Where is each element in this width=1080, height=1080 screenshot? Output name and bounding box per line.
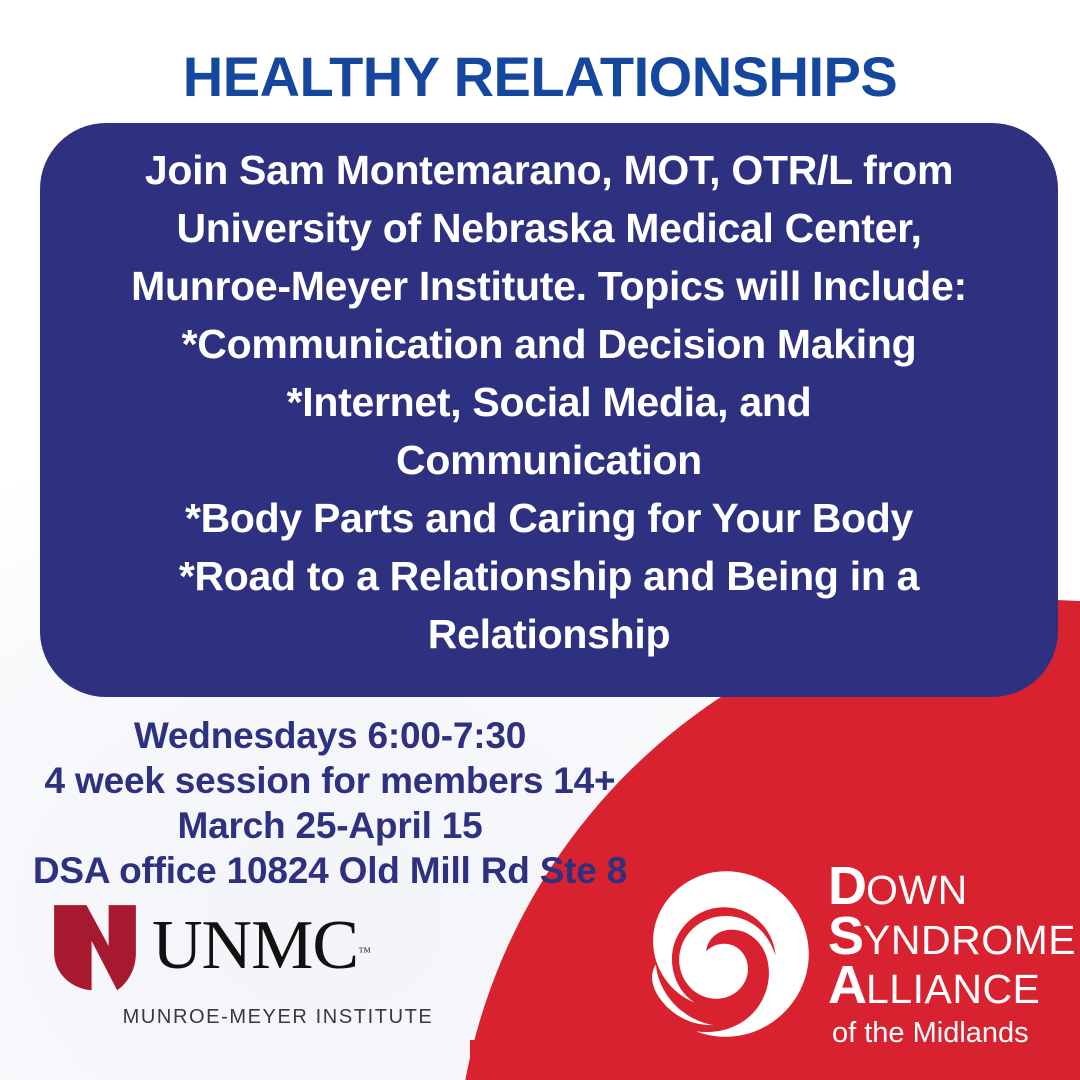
panel-line: Relationship [428, 605, 670, 663]
dsa-tagline: of the Midlands [832, 1017, 1076, 1050]
unmc-wordmark: UNMC ™ [152, 911, 358, 981]
panel-line: *Road to a Relationship and Being in a [179, 547, 919, 605]
poster-canvas: HEALTHY RELATIONSHIPS Join Sam Montemara… [0, 0, 1080, 1080]
dsa-logo: D OWN S YNDROME A LLIANCE of the Midland… [636, 858, 1056, 1050]
panel-line: University of Nebraska Medical Center, [176, 199, 921, 257]
dsa-initial-a: A [828, 961, 866, 1011]
panel-line: *Communication and Decision Making [182, 315, 917, 373]
dsa-word-own: OWN [866, 872, 968, 910]
panel-line: *Internet, Social Media, and [287, 373, 812, 431]
event-details: Wednesdays 6:00-7:30 4 week session for … [0, 713, 660, 893]
dsa-spiral-icon [636, 864, 816, 1044]
unmc-wordmark-text: UNMC [152, 907, 358, 984]
panel-line: Munroe-Meyer Institute. Topics will Incl… [131, 257, 967, 315]
unmc-subtitle: MUNROE-MEYER INSTITUTE [48, 1006, 448, 1029]
unmc-logo: UNMC ™ MUNROE-MEYER INSTITUTE [48, 900, 448, 1029]
dsa-initial-s: S [828, 912, 863, 962]
dsa-wordmark: D OWN S YNDROME A LLIANCE of the Midland… [828, 858, 1076, 1050]
panel-line: *Body Parts and Caring for Your Body [185, 489, 913, 547]
dsa-word-lliance: LLIANCE [866, 971, 1040, 1009]
panel-line: Communication [396, 431, 702, 489]
dsa-initial-d: D [828, 862, 866, 912]
details-session: 4 week session for members 14+ [0, 758, 660, 803]
page-title: HEALTHY RELATIONSHIPS [0, 44, 1080, 109]
dsa-line-alliance: A LLIANCE [828, 961, 1076, 1011]
trademark-icon: ™ [358, 917, 370, 987]
details-schedule: Wednesdays 6:00-7:30 [0, 713, 660, 758]
dsa-word-yndrome: YNDROME [863, 922, 1076, 960]
unmc-logo-row: UNMC ™ [48, 900, 448, 992]
dsa-line-syndrome: S YNDROME [828, 912, 1076, 962]
unmc-shield-n-icon [52, 900, 138, 992]
details-dates: March 25-April 15 [0, 803, 660, 848]
description-panel: Join Sam Montemarano, MOT, OTR/L from Un… [40, 123, 1058, 697]
details-location: DSA office 10824 Old Mill Rd Ste 8 [0, 848, 660, 893]
panel-line: Join Sam Montemarano, MOT, OTR/L from [145, 141, 953, 199]
dsa-line-down: D OWN [828, 862, 1076, 912]
